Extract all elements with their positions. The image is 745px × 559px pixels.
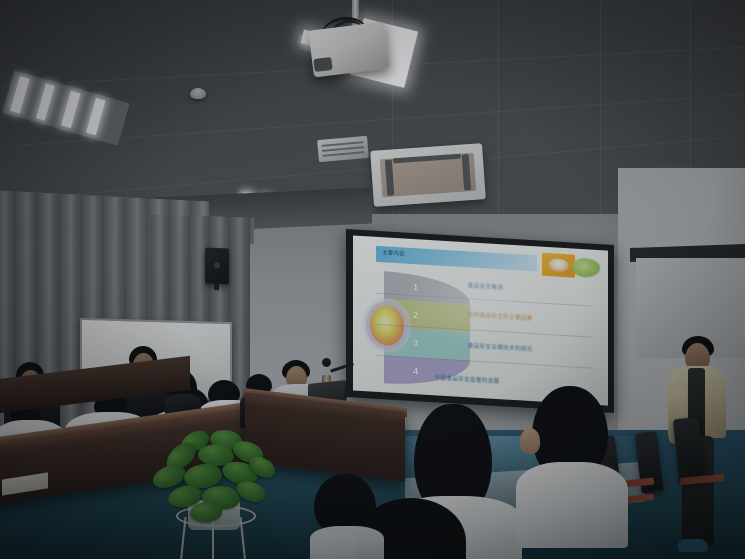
microphone-head [322, 358, 331, 367]
air-vent-small [317, 136, 369, 162]
slide-title-bar: 主要内容: [376, 246, 537, 271]
segment-number-2: 2 [413, 310, 418, 320]
foreground-lab-coat-right [516, 462, 628, 548]
segment-number-4: 4 [413, 366, 418, 376]
foreground-hand-right [520, 428, 540, 454]
conference-chair-far-right [676, 418, 740, 514]
meeting-room-photo: 主要内容: 1 2 3 [0, 0, 745, 559]
slide-thumbnail-image [542, 253, 575, 278]
attendee-mid-foreground-left [314, 474, 376, 559]
presenter-shoe [678, 539, 708, 552]
vegetable-graphic [572, 258, 600, 278]
segment-number-1: 1 [413, 282, 418, 292]
potted-green-plant [150, 430, 280, 520]
cassette-air-conditioner [370, 143, 486, 207]
segmented-semicircle-diagram: 1 2 3 4 [384, 271, 471, 388]
slide-bullet-3: 食品安全关键技术的研究 [468, 341, 533, 353]
attendee-foreground-right [516, 386, 628, 559]
projected-slide: 主要内容: 1 2 3 [353, 235, 608, 405]
slide-title-text: 主要内容: [382, 249, 406, 257]
wall-speaker [205, 248, 229, 285]
projector-lens [313, 57, 332, 72]
slide-bullet-2: 影响食品安全的主要因素 [468, 310, 533, 322]
smoke-detector [190, 88, 206, 99]
segment-number-3: 3 [413, 338, 418, 348]
slide-bullet-1: 食品安全概述 [468, 281, 503, 291]
